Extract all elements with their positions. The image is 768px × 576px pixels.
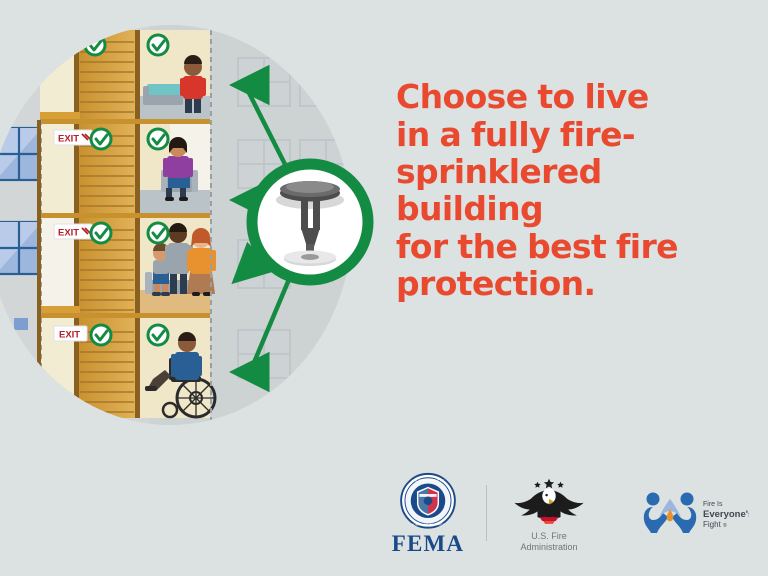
headline-text: Choose to live in a fully fire- sprinkle… [396,78,756,303]
svg-text:®: ® [723,522,727,529]
fema-wordmark: FEMA [392,532,465,555]
logo-divider [486,485,487,541]
feef-wordmark: Fire Is Everyone's Fight ® [703,501,749,529]
fire-is-everyones-fight-logo-block: Fire Is Everyone's Fight ® [639,487,749,539]
sofa-4 [143,84,183,105]
checkmark-2-stair [91,223,111,243]
exit-sign-3: EXIT [54,130,92,145]
people-figures [644,493,696,534]
usfa-wordmark: U.S. Fire Administration [520,531,577,554]
agency-logo-bar: U.S. DEPARTMENT OF HOMELAND SECURITY FEM… [380,470,768,556]
exit-sign-2: EXIT [54,224,92,239]
svg-text:HOMELAND SECURITY: HOMELAND SECURITY [411,522,445,526]
floor-4 [40,30,210,124]
svg-text:EXIT: EXIT [58,134,79,145]
svg-text:EXIT: EXIT [59,330,80,341]
fire-is-everyones-fight-icon: Fire Is Everyone's Fight ® [639,487,749,539]
svg-text:Fight: Fight [703,520,722,529]
floor-3: EXIT [40,124,210,218]
checkmark-1-stair [91,325,111,345]
floor-2: EXIT [40,218,216,318]
exit-sign-1: EXIT [54,326,87,341]
svg-text:EXIT: EXIT [58,228,79,239]
checkmark-4-room [148,35,168,55]
building-illustration: EXIT [0,0,400,470]
dhs-seal-icon: U.S. DEPARTMENT OF HOMELAND SECURITY [380,471,476,531]
cutaway-posts [37,120,41,420]
checkmark-3-room [148,129,168,149]
svg-text:U.S. DEPARTMENT OF: U.S. DEPARTMENT OF [412,478,445,482]
usfa-eagle-icon [501,473,597,529]
checkmark-3-stair [91,129,111,149]
svg-text:Fire Is: Fire Is [703,501,723,508]
fema-logo-block: U.S. DEPARTMENT OF HOMELAND SECURITY FEM… [380,471,476,556]
usfa-logo-block: U.S. Fire Administration [501,473,597,553]
svg-text:Everyone's: Everyone's [703,509,749,520]
floor-1: EXIT [40,318,215,418]
fire-sprinkler-badge [252,164,368,280]
checkmark-4-stair [85,35,105,55]
poster-canvas: EXIT [0,0,768,576]
checkmark-1-room [148,325,168,345]
checkmark-2-room [148,223,168,243]
